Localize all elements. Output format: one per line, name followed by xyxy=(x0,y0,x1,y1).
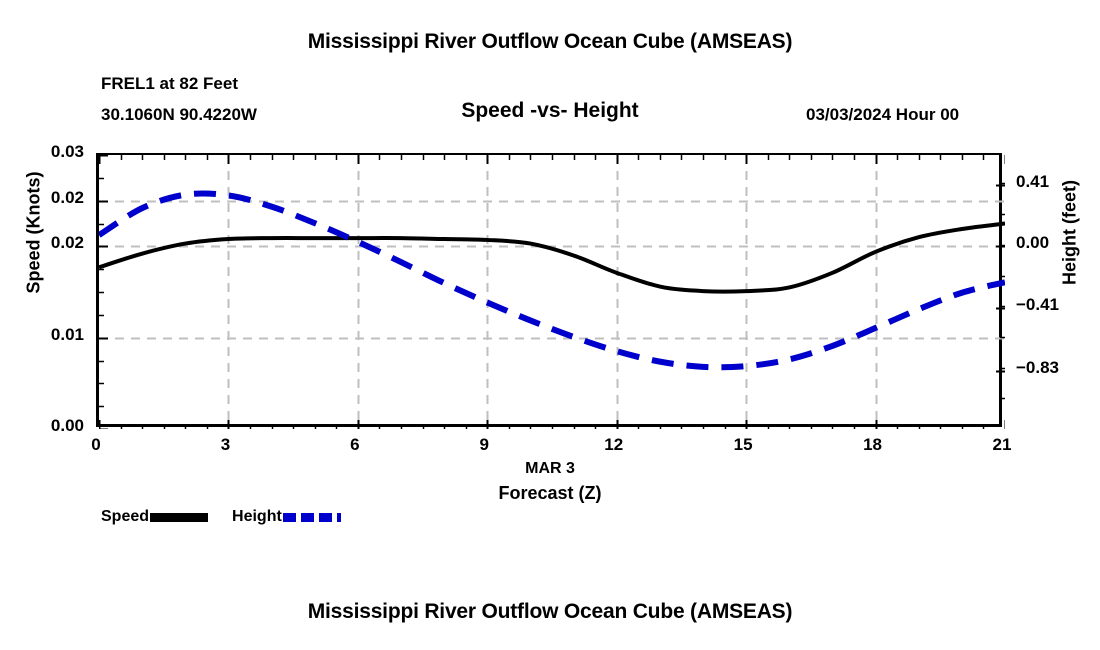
series-line-speed xyxy=(99,224,1005,292)
page-title: Mississippi River Outflow Ocean Cube (AM… xyxy=(0,30,1100,54)
series-line-height xyxy=(99,193,1005,367)
y-axis-left-ticklabel: 0.03 xyxy=(24,142,84,162)
x-axis-ticklabel: 6 xyxy=(335,435,375,455)
chart-legend: Speed Height xyxy=(101,508,365,526)
forecast-timestamp: 03/03/2024 Hour 00 xyxy=(806,105,959,125)
x-axis-ticklabel: 9 xyxy=(464,435,504,455)
y-axis-right-ticklabel: −0.41 xyxy=(1016,295,1086,315)
y-axis-right-ticklabel: −0.83 xyxy=(1016,358,1086,378)
plot-canvas xyxy=(99,155,1005,429)
x-axis-ticklabel: 3 xyxy=(205,435,245,455)
legend-item-speed: Speed xyxy=(101,508,232,526)
legend-swatch-speed-icon xyxy=(150,513,208,522)
y-axis-left-ticklabel: 0.01 xyxy=(24,325,84,345)
x-axis-ticklabel: 21 xyxy=(982,435,1022,455)
y-axis-right-ticklabel: 0.41 xyxy=(1016,172,1086,192)
plot-area xyxy=(96,153,1002,427)
legend-label-height: Height xyxy=(232,508,282,526)
y-axis-left-ticklabel: 0.02 xyxy=(24,233,84,253)
x-axis-ticklabel: 0 xyxy=(76,435,116,455)
y-axis-left-ticklabel: 0.00 xyxy=(24,416,84,436)
x-axis-ticklabel: 18 xyxy=(853,435,893,455)
y-axis-right-ticklabel: 0.00 xyxy=(1016,233,1086,253)
x-axis-ticklabel: 12 xyxy=(594,435,634,455)
chart-page: Mississippi River Outflow Ocean Cube (AM… xyxy=(0,0,1100,650)
legend-item-height: Height xyxy=(232,508,365,526)
station-label: FREL1 at 82 Feet xyxy=(101,74,238,94)
y-axis-left-ticklabel: 0.02 xyxy=(24,188,84,208)
legend-label-speed: Speed xyxy=(101,508,149,526)
x-axis-ticklabel: 15 xyxy=(723,435,763,455)
footer-title: Mississippi River Outflow Ocean Cube (AM… xyxy=(0,600,1100,624)
legend-swatch-height-icon xyxy=(283,513,341,522)
data-series xyxy=(99,193,1005,367)
x-axis-date-label: MAR 3 xyxy=(0,460,1100,478)
x-axis-title: Forecast (Z) xyxy=(0,483,1100,504)
